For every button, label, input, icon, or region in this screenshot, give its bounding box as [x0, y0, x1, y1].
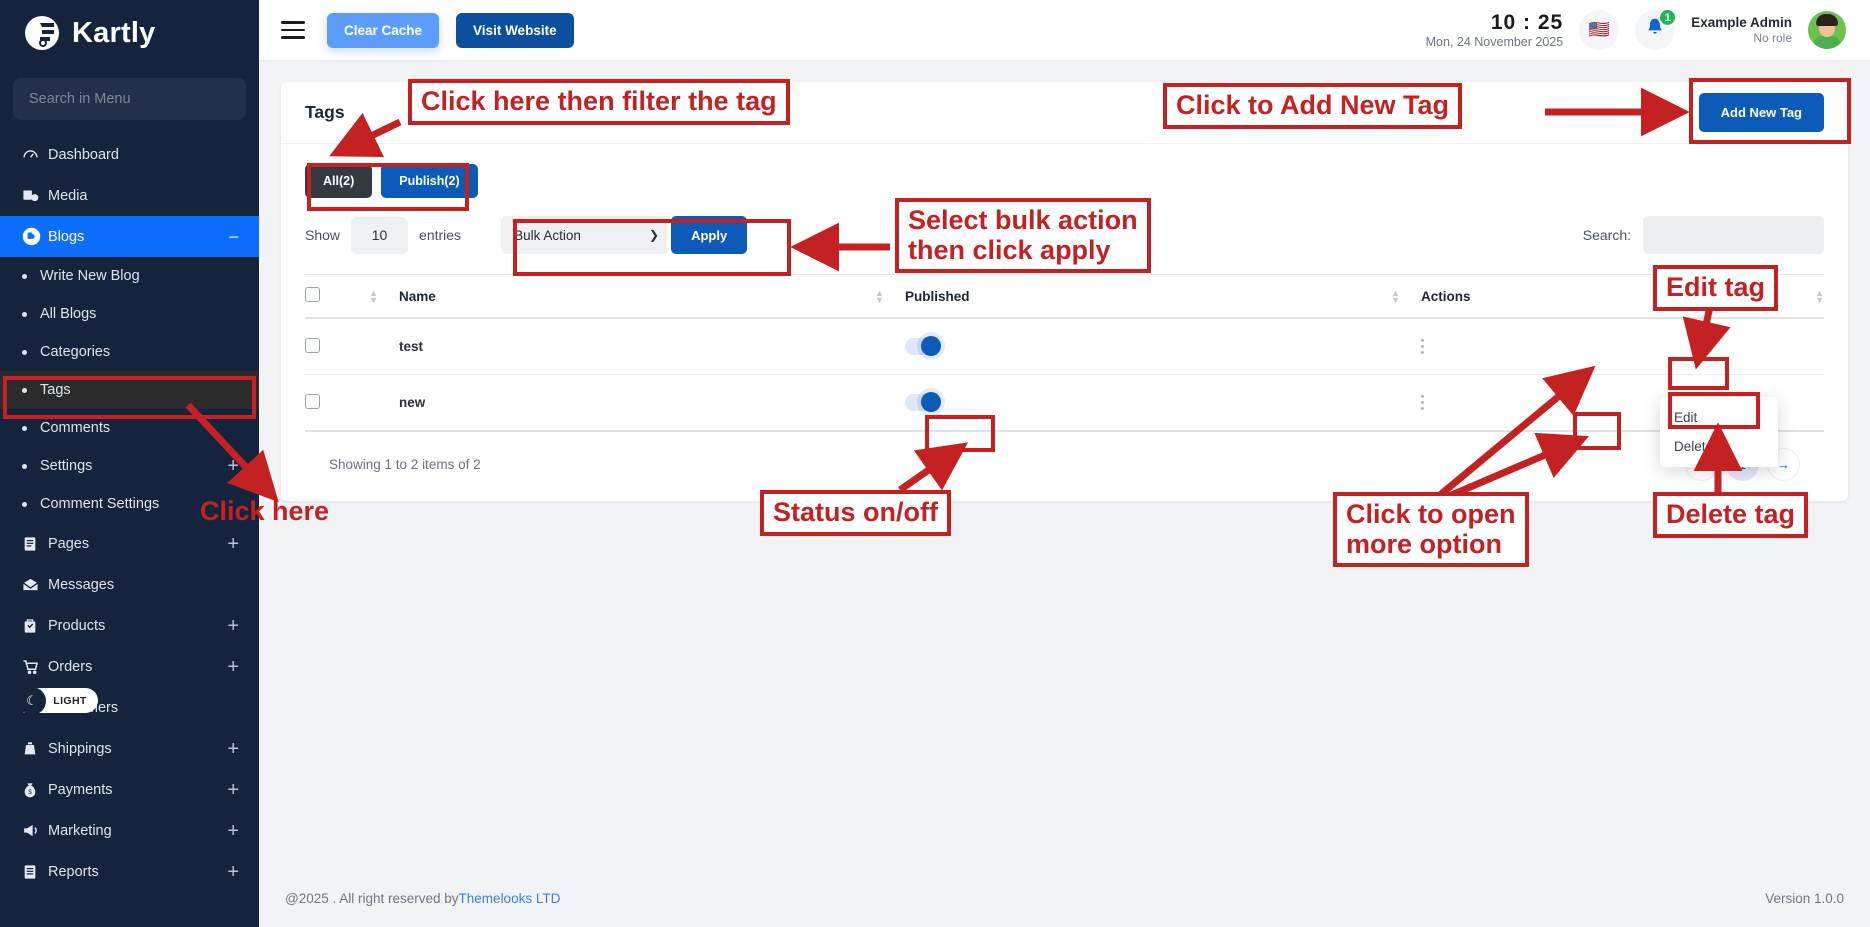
sidebar-item-media[interactable]: Media	[0, 175, 259, 216]
plus-icon[interactable]: +	[227, 616, 239, 636]
action-menu-delete[interactable]: Delete	[1660, 432, 1778, 461]
clock-time: 10 : 25	[1426, 11, 1564, 35]
sidebar-item-orders[interactable]: Orders +	[0, 646, 259, 687]
topbar-right: 10 : 25 Mon, 24 November 2025 🇺🇸 1 Examp…	[1426, 10, 1846, 50]
annotation-add-tag-text: Click to Add New Tag	[1163, 83, 1462, 129]
sidebar-subitem-all-blogs[interactable]: All Blogs	[0, 295, 259, 333]
annotation-edit-tag-text: Edit tag	[1653, 265, 1778, 311]
cell-name: test	[399, 318, 869, 375]
annotation-more-option: Click to open more option	[1333, 492, 1529, 567]
highlight-delete-item	[1668, 392, 1760, 429]
search-label: Search:	[1583, 227, 1631, 243]
pages-icon	[22, 536, 48, 552]
row-checkbox[interactable]	[305, 338, 320, 353]
notification-badge: 1	[1658, 8, 1677, 27]
plus-icon[interactable]: +	[227, 780, 239, 800]
sort-icon[interactable]: ▲▼	[1814, 290, 1824, 304]
sidebar-subitem-settings[interactable]: Settings +	[0, 447, 259, 485]
th-sort-actions[interactable]: ▲▼	[1788, 275, 1824, 319]
annotation-add-tag: Click to Add New Tag	[1163, 83, 1462, 129]
sidebar-label-shippings: Shippings	[48, 741, 227, 757]
blog-icon	[22, 227, 48, 246]
sidebar-item-blogs[interactable]: Blogs −	[0, 216, 259, 257]
annotation-status-onoff: Status on/off	[760, 490, 951, 536]
sidebar-sublabel-settings: Settings	[40, 458, 227, 474]
th-sort-name[interactable]: ▲▼	[869, 275, 905, 319]
sidebar-item-shippings[interactable]: Shippings +	[0, 728, 259, 769]
theme-toggle[interactable]: ☾ LIGHT	[22, 688, 98, 713]
main-content: Tags Add New Tag All(2) Publish(2) Show …	[259, 60, 1870, 927]
sidebar-label-products: Products	[48, 618, 227, 634]
annotation-delete-tag-text: Delete tag	[1653, 492, 1808, 538]
sidebar-item-payments[interactable]: $ Payments +	[0, 769, 259, 810]
plus-icon[interactable]: +	[227, 739, 239, 759]
sidebar-item-messages[interactable]: Messages	[0, 564, 259, 605]
highlight-status-toggle	[925, 415, 995, 452]
hamburger-menu-icon[interactable]	[281, 16, 305, 44]
sidebar-label-media: Media	[48, 188, 239, 204]
th-name[interactable]: Name	[399, 275, 869, 319]
table-row: test	[305, 318, 1824, 375]
table-header: ▲▼ Name ▲▼ Published ▲▼	[305, 275, 1824, 319]
user-info[interactable]: Example Admin No role	[1691, 15, 1792, 46]
notifications-button[interactable]: 1	[1635, 10, 1675, 50]
highlight-sidebar-tags	[3, 376, 256, 419]
annotation-click-here: Click here	[200, 497, 329, 527]
avatar-hair	[1816, 14, 1838, 26]
sort-icon[interactable]: ▲▼	[369, 290, 379, 304]
reports-icon	[22, 864, 48, 880]
entries-label: entries	[419, 227, 461, 243]
sidebar-label-orders: Orders	[48, 659, 227, 675]
cell-spacer	[1788, 375, 1824, 431]
annotation-bulk-action: Select bulk action then click apply	[895, 198, 1151, 273]
menu-search-box[interactable]	[13, 78, 246, 120]
select-all-checkbox[interactable]	[305, 287, 320, 302]
brand-logo-area[interactable]: Kartly	[0, 0, 259, 66]
sidebar-label-marketing: Marketing	[48, 823, 227, 839]
sidebar-sublabel-all-blogs: All Blogs	[40, 306, 239, 322]
plus-icon[interactable]: +	[227, 657, 239, 677]
sort-icon[interactable]: ▲▼	[875, 290, 885, 304]
sidebar-label-blogs: Blogs	[48, 229, 228, 245]
cell-name: new	[399, 375, 869, 431]
products-icon	[22, 618, 48, 634]
bullet-icon	[22, 426, 27, 431]
published-toggle[interactable]	[905, 338, 939, 355]
shipping-icon	[22, 741, 48, 757]
sort-icon[interactable]: ▲▼	[1391, 290, 1401, 304]
toggle-knob	[921, 392, 941, 412]
show-label: Show	[305, 227, 340, 243]
sidebar-label-payments: Payments	[48, 782, 227, 798]
annotation-filter-tag: Click here then filter the tag	[408, 79, 790, 125]
annotation-edit-tag: Edit tag	[1653, 265, 1778, 311]
annotation-more-option-text: Click to open more option	[1333, 492, 1529, 567]
clear-cache-button[interactable]: Clear Cache	[327, 13, 439, 48]
bullet-icon	[22, 350, 27, 355]
th-sort-select[interactable]: ▲▼	[363, 275, 399, 319]
sidebar-sublabel-comments: Comments	[40, 420, 239, 436]
footer: @2025 . All right reserved by Themelooks…	[259, 869, 1870, 927]
published-toggle[interactable]	[905, 394, 939, 411]
clock-date: Mon, 24 November 2025	[1426, 35, 1564, 49]
bullet-icon	[22, 502, 27, 507]
annotation-bulk-action-text: Select bulk action then click apply	[895, 198, 1151, 273]
th-sort-published[interactable]: ▲▼	[1385, 275, 1421, 319]
cell-actions	[1421, 318, 1788, 375]
avatar-body	[1813, 36, 1841, 49]
sidebar-label-pages: Pages	[48, 536, 227, 552]
cell-spacer	[869, 375, 905, 431]
plus-icon[interactable]: +	[227, 456, 239, 476]
kartly-logo-icon	[22, 13, 62, 53]
th-published-label: Published	[905, 289, 970, 304]
brand-name: Kartly	[72, 17, 155, 50]
visit-website-button[interactable]: Visit Website	[456, 13, 574, 48]
toggle-knob	[921, 336, 941, 356]
search-group: Search:	[1583, 216, 1824, 254]
cell-spacer	[363, 318, 399, 375]
media-icon	[22, 187, 48, 204]
cell-spacer	[1788, 318, 1824, 375]
payments-icon: $	[22, 782, 48, 798]
sidebar-item-products[interactable]: Products +	[0, 605, 259, 646]
moon-icon: ☾	[18, 687, 46, 715]
clock: 10 : 25 Mon, 24 November 2025	[1426, 11, 1564, 50]
menu-search-input[interactable]	[29, 91, 230, 107]
row-checkbox[interactable]	[305, 394, 320, 409]
collapse-minus-icon[interactable]: −	[228, 228, 239, 246]
cell-spacer	[869, 318, 905, 375]
table-header-row: ▲▼ Name ▲▼ Published ▲▼	[305, 275, 1824, 319]
sidebar-item-pages[interactable]: Pages +	[0, 523, 259, 564]
annotation-click-here-text: Click here	[200, 497, 329, 527]
th-actions-label: Actions	[1421, 289, 1471, 304]
megaphone-icon	[22, 822, 48, 839]
highlight-bulk-action	[513, 219, 791, 276]
th-select-all	[305, 275, 363, 319]
th-published[interactable]: Published	[905, 275, 1385, 319]
footer-version: Version 1.0.0	[1765, 891, 1844, 906]
cell-published	[905, 318, 1385, 375]
sidebar-label-messages: Messages	[48, 577, 239, 593]
avatar[interactable]	[1808, 11, 1846, 49]
sidebar-subitem-categories[interactable]: Categories	[0, 333, 259, 371]
cell-spacer	[1385, 375, 1421, 431]
user-role: No role	[1691, 31, 1792, 45]
tags-table: ▲▼ Name ▲▼ Published ▲▼	[305, 274, 1824, 430]
showing-entries-text: Showing 1 to 2 items of 2	[329, 457, 481, 472]
annotation-status-onoff-text: Status on/off	[760, 490, 951, 536]
search-input[interactable]	[1643, 216, 1824, 254]
annotation-filter-tag-text: Click here then filter the tag	[408, 79, 790, 125]
sidebar-label-dashboard: Dashboard	[48, 147, 239, 163]
sidebar-sublabel-write-new-blog: Write New Blog	[40, 268, 239, 284]
plus-icon[interactable]: +	[227, 862, 239, 882]
speedometer-icon	[22, 146, 48, 163]
sidebar-label-reports: Reports	[48, 864, 227, 880]
kebab-icon[interactable]	[1421, 339, 1748, 354]
topbar: Clear Cache Visit Website 10 : 25 Mon, 2…	[259, 0, 1870, 60]
th-name-label: Name	[399, 289, 436, 304]
cell-spacer	[363, 375, 399, 431]
highlight-edit-item	[1668, 357, 1729, 390]
us-flag-icon: 🇺🇸	[1589, 20, 1610, 40]
footer-copyright: @2025 . All right reserved by	[285, 891, 459, 906]
cell-select	[305, 318, 363, 375]
theme-toggle-label: LIGHT	[46, 695, 98, 707]
bullet-icon	[22, 274, 27, 279]
plus-icon[interactable]: +	[227, 821, 239, 841]
sidebar-item-marketing[interactable]: Marketing +	[0, 810, 259, 851]
bullet-icon	[22, 464, 27, 469]
sidebar-item-reports[interactable]: Reports +	[0, 851, 259, 892]
annotation-delete-tag: Delete tag	[1653, 492, 1808, 538]
entries-length-select[interactable]: 10	[351, 217, 408, 254]
footer-company-link[interactable]: Themelooks LTD	[459, 891, 561, 906]
filter-chips: All(2) Publish(2)	[281, 144, 1848, 202]
bullet-icon	[22, 312, 27, 317]
language-switcher[interactable]: 🇺🇸	[1579, 10, 1619, 50]
cell-select	[305, 375, 363, 431]
sidebar-sublabel-categories: Categories	[40, 344, 239, 360]
highlight-add-new-tag	[1689, 78, 1851, 144]
cart-icon	[22, 658, 48, 676]
cell-spacer	[1385, 318, 1421, 375]
highlight-kebab-row2	[1573, 412, 1621, 450]
sidebar-subitem-write-new-blog[interactable]: Write New Blog	[0, 257, 259, 295]
messages-icon	[22, 576, 48, 593]
sidebar-item-dashboard[interactable]: Dashboard	[0, 134, 259, 175]
plus-icon[interactable]: +	[227, 534, 239, 554]
page-title: Tags	[305, 102, 345, 123]
highlight-filter-chips	[307, 163, 469, 211]
user-name: Example Admin	[1691, 15, 1792, 31]
sidebar: Kartly Dashboard Media	[0, 0, 259, 927]
